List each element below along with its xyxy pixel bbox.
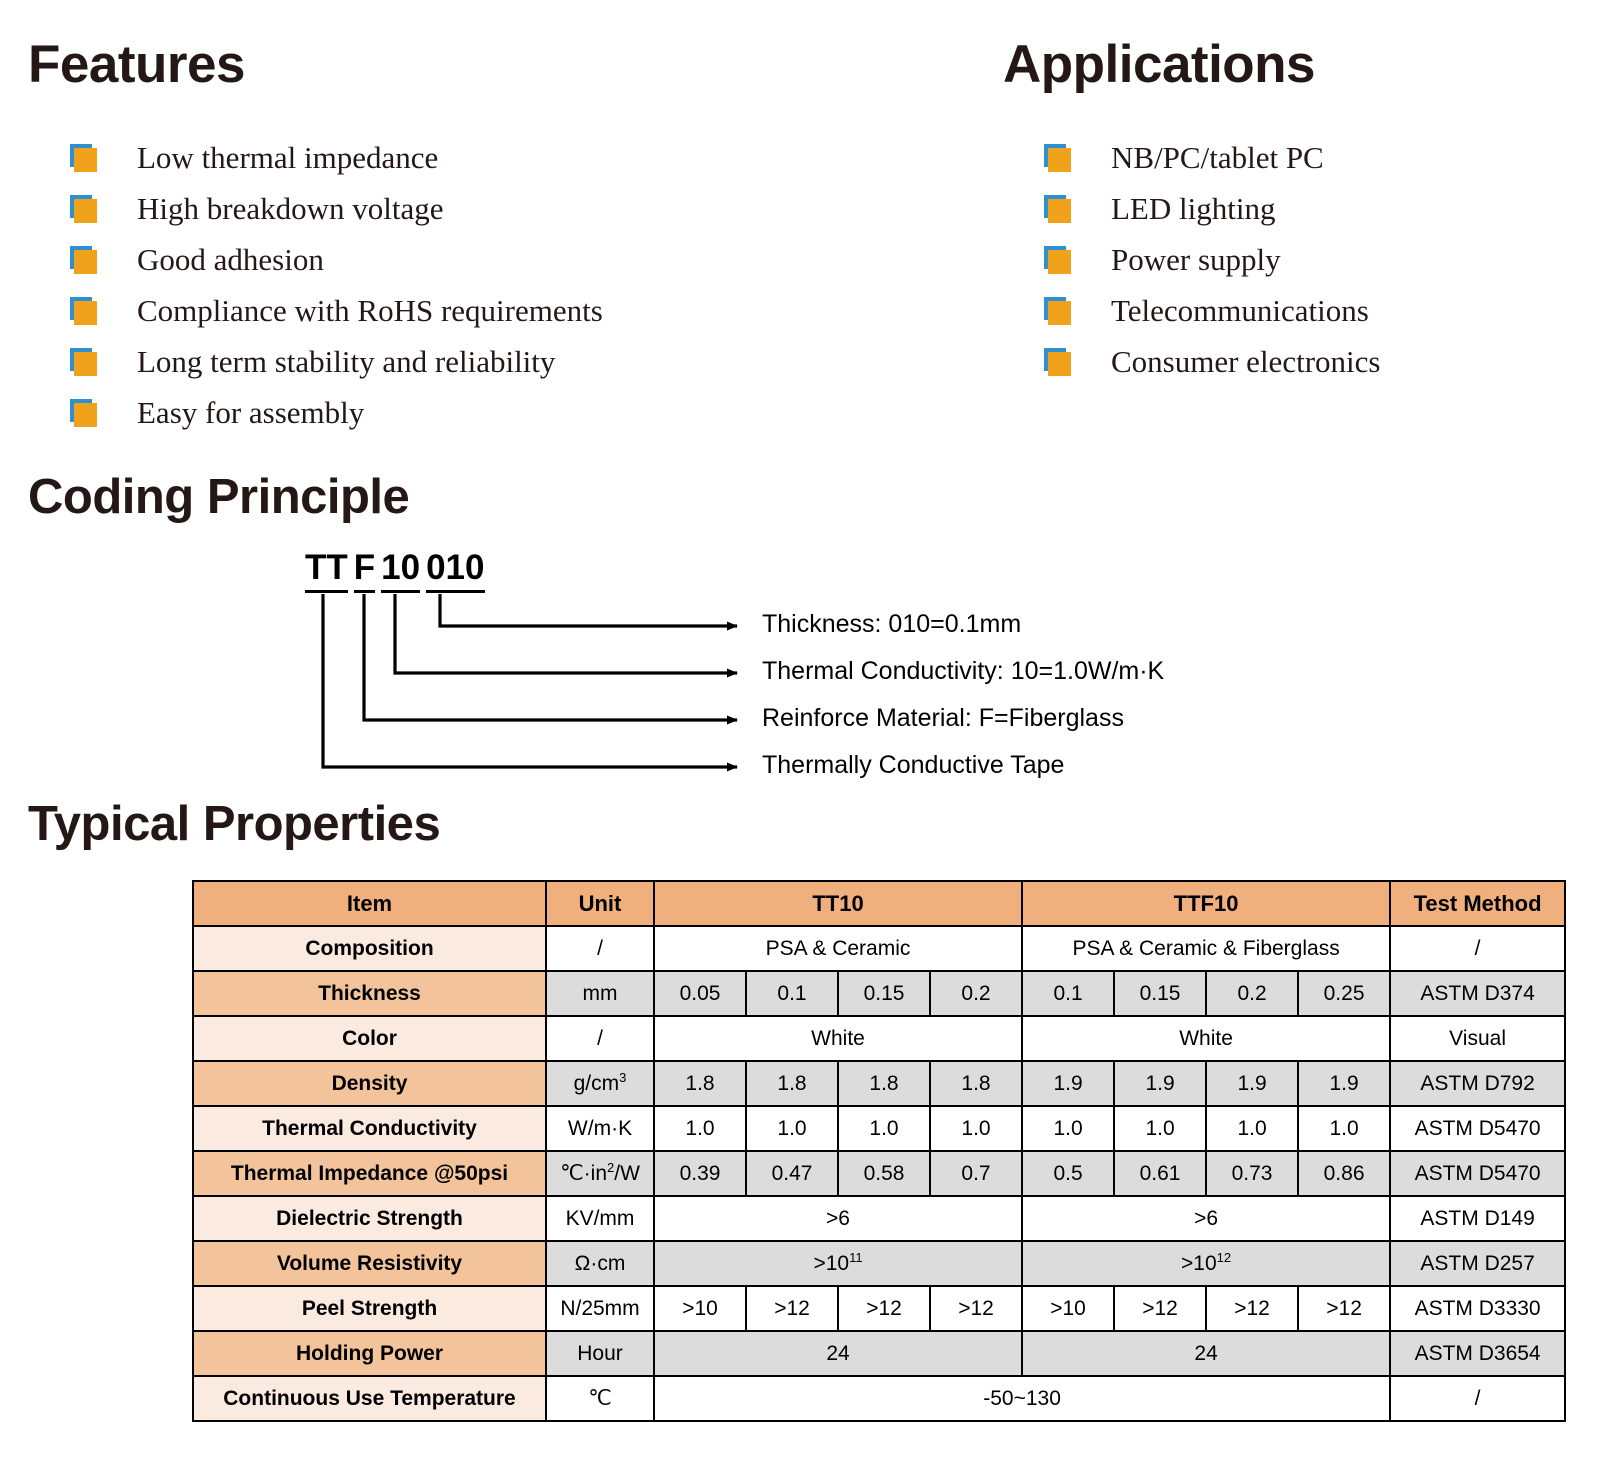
bullet-square-icon [70, 348, 97, 376]
applications-heading: Applications [1003, 38, 1315, 91]
row-label: Dielectric Strength [193, 1196, 546, 1241]
bullet-square-icon [1044, 144, 1071, 172]
bullet-square-icon [70, 195, 97, 223]
row-label: Composition [193, 926, 546, 971]
row-unit: KV/mm [546, 1196, 654, 1241]
row-value-tt10: 0.47 [746, 1151, 838, 1196]
row-unit: mm [546, 971, 654, 1016]
row-test-method: ASTM D5470 [1390, 1106, 1565, 1151]
row-value-ttf10: 0.86 [1298, 1151, 1390, 1196]
row-unit: N/25mm [546, 1286, 654, 1331]
row-test-method: ASTM D3330 [1390, 1286, 1565, 1331]
feature-item-label: Good adhesion [137, 242, 324, 278]
table-row: Composition/PSA & CeramicPSA & Ceramic &… [193, 926, 1565, 971]
table-row: Thermal Impedance @50psi℃·in2/W0.390.470… [193, 1151, 1565, 1196]
bullet-square-icon [1044, 246, 1071, 274]
row-test-method: ASTM D792 [1390, 1061, 1565, 1106]
application-item-label: Consumer electronics [1111, 344, 1380, 380]
datasheet-page: Features Low thermal impedanceHigh break… [0, 0, 1600, 1468]
row-test-method: ASTM D5470 [1390, 1151, 1565, 1196]
row-unit: W/m·K [546, 1106, 654, 1151]
row-value-ttf10: 1.9 [1022, 1061, 1114, 1106]
application-item: Power supply [1044, 234, 1380, 285]
row-value-tt10: PSA & Ceramic [654, 926, 1022, 971]
application-item: Consumer electronics [1044, 336, 1380, 387]
features-heading: Features [28, 38, 245, 91]
feature-item: Long term stability and reliability [70, 336, 603, 387]
table-row: Holding PowerHour2424ASTM D3654 [193, 1331, 1565, 1376]
row-value-ttf10: >1012 [1022, 1241, 1390, 1286]
feature-item-label: Easy for assembly [137, 395, 364, 431]
row-value-ttf10: 1.9 [1206, 1061, 1298, 1106]
row-label: Peel Strength [193, 1286, 546, 1331]
applications-list: NB/PC/tablet PCLED lightingPower supplyT… [1044, 132, 1380, 387]
row-test-method: ASTM D149 [1390, 1196, 1565, 1241]
feature-item: Easy for assembly [70, 387, 603, 438]
row-value-ttf10: 0.15 [1114, 971, 1206, 1016]
row-value-tt10: White [654, 1016, 1022, 1061]
row-value-tt10: 0.1 [746, 971, 838, 1016]
bullet-square-icon [70, 297, 97, 325]
row-value-ttf10: PSA & Ceramic & Fiberglass [1022, 926, 1390, 971]
code-label-thickness: Thickness: 010=0.1mm [762, 610, 1021, 639]
row-unit: Ω·cm [546, 1241, 654, 1286]
row-value-tt10: 0.2 [930, 971, 1022, 1016]
row-value-tt10: 0.05 [654, 971, 746, 1016]
row-label: Holding Power [193, 1331, 546, 1376]
row-value-tt10: >1011 [654, 1241, 1022, 1286]
code-label-thermal-conductivity: Thermal Conductivity: 10=1.0W/m·K [762, 657, 1164, 686]
row-unit: g/cm3 [546, 1061, 654, 1106]
table-row: Peel StrengthN/25mm>10>12>12>12>10>12>12… [193, 1286, 1565, 1331]
row-unit: Hour [546, 1331, 654, 1376]
row-value-tt10: >12 [930, 1286, 1022, 1331]
row-unit: / [546, 926, 654, 971]
row-value-ttf10: 1.0 [1206, 1106, 1298, 1151]
row-value-tt10: 0.7 [930, 1151, 1022, 1196]
feature-item: Low thermal impedance [70, 132, 603, 183]
typical-properties-table: Item Unit TT10 TTF10 Test Method Composi… [192, 880, 1566, 1422]
feature-item-label: Low thermal impedance [137, 140, 438, 176]
row-value-tt10: 0.58 [838, 1151, 930, 1196]
row-value-ttf10: 1.0 [1298, 1106, 1390, 1151]
table-row: Thicknessmm0.050.10.150.20.10.150.20.25A… [193, 971, 1565, 1016]
table-row: Thermal ConductivityW/m·K1.01.01.01.01.0… [193, 1106, 1565, 1151]
row-value-ttf10: >12 [1114, 1286, 1206, 1331]
row-value-ttf10: >6 [1022, 1196, 1390, 1241]
application-item-label: Power supply [1111, 242, 1281, 278]
feature-item-label: Long term stability and reliability [137, 344, 555, 380]
application-item: NB/PC/tablet PC [1044, 132, 1380, 183]
column-header-ttf10: TTF10 [1022, 881, 1390, 926]
row-value-tt10: 1.0 [838, 1106, 930, 1151]
row-test-method: ASTM D257 [1390, 1241, 1565, 1286]
code-label-reinforce-material: Reinforce Material: F=Fiberglass [762, 704, 1124, 733]
row-value-tt10: 1.8 [654, 1061, 746, 1106]
row-value-all: -50~130 [654, 1376, 1390, 1421]
row-value-ttf10: 1.9 [1114, 1061, 1206, 1106]
row-unit: ℃·in2/W [546, 1151, 654, 1196]
row-label: Thickness [193, 971, 546, 1016]
feature-item: Compliance with RoHS requirements [70, 285, 603, 336]
row-test-method: Visual [1390, 1016, 1565, 1061]
row-value-tt10: >6 [654, 1196, 1022, 1241]
column-header-item: Item [193, 881, 546, 926]
features-list: Low thermal impedanceHigh breakdown volt… [70, 132, 603, 438]
bullet-square-icon [1044, 348, 1071, 376]
row-value-ttf10: >12 [1206, 1286, 1298, 1331]
bullet-square-icon [1044, 195, 1071, 223]
row-value-tt10: 1.8 [930, 1061, 1022, 1106]
table-header-row: Item Unit TT10 TTF10 Test Method [193, 881, 1565, 926]
bullet-square-icon [70, 399, 97, 427]
typical-properties-heading: Typical Properties [28, 800, 440, 849]
table-body: Composition/PSA & CeramicPSA & Ceramic &… [193, 926, 1565, 1421]
row-value-tt10: >10 [654, 1286, 746, 1331]
row-value-tt10: >12 [746, 1286, 838, 1331]
application-item: Telecommunications [1044, 285, 1380, 336]
row-value-ttf10: 0.2 [1206, 971, 1298, 1016]
bullet-square-icon [70, 246, 97, 274]
row-value-tt10: 1.8 [746, 1061, 838, 1106]
row-value-ttf10: 1.0 [1114, 1106, 1206, 1151]
row-value-ttf10: White [1022, 1016, 1390, 1061]
row-label: Thermal Conductivity [193, 1106, 546, 1151]
row-value-ttf10: 0.73 [1206, 1151, 1298, 1196]
row-value-ttf10: 1.0 [1022, 1106, 1114, 1151]
bullet-square-icon [70, 144, 97, 172]
row-value-tt10: 0.39 [654, 1151, 746, 1196]
column-header-test-method: Test Method [1390, 881, 1565, 926]
table-row: Continuous Use Temperature℃-50~130/ [193, 1376, 1565, 1421]
row-label: Density [193, 1061, 546, 1106]
bullet-square-icon [1044, 297, 1071, 325]
row-value-ttf10: 0.61 [1114, 1151, 1206, 1196]
table-row: Dielectric StrengthKV/mm>6>6ASTM D149 [193, 1196, 1565, 1241]
column-header-unit: Unit [546, 881, 654, 926]
coding-principle-heading: Coding Principle [28, 473, 409, 522]
row-value-tt10: 0.15 [838, 971, 930, 1016]
row-value-ttf10: 1.9 [1298, 1061, 1390, 1106]
application-item-label: NB/PC/tablet PC [1111, 140, 1324, 176]
row-value-ttf10: >12 [1298, 1286, 1390, 1331]
row-value-tt10: 24 [654, 1331, 1022, 1376]
feature-item: Good adhesion [70, 234, 603, 285]
row-test-method: / [1390, 926, 1565, 971]
row-value-tt10: >12 [838, 1286, 930, 1331]
row-label: Volume Resistivity [193, 1241, 546, 1286]
row-test-method: ASTM D374 [1390, 971, 1565, 1016]
row-value-tt10: 1.0 [746, 1106, 838, 1151]
row-value-ttf10: >10 [1022, 1286, 1114, 1331]
row-value-tt10: 1.0 [930, 1106, 1022, 1151]
row-label: Thermal Impedance @50psi [193, 1151, 546, 1196]
feature-item-label: High breakdown voltage [137, 191, 443, 227]
table-row: Volume ResistivityΩ·cm>1011>1012ASTM D25… [193, 1241, 1565, 1286]
row-test-method: / [1390, 1376, 1565, 1421]
row-unit: ℃ [546, 1376, 654, 1421]
row-value-tt10: 1.0 [654, 1106, 746, 1151]
row-unit: / [546, 1016, 654, 1061]
row-value-ttf10: 24 [1022, 1331, 1390, 1376]
coding-principle-diagram: TTF10010 Thickness: 010=0.1mm Thermal Co… [290, 548, 1490, 793]
application-item-label: LED lighting [1111, 191, 1275, 227]
row-test-method: ASTM D3654 [1390, 1331, 1565, 1376]
feature-item: High breakdown voltage [70, 183, 603, 234]
row-label: Color [193, 1016, 546, 1061]
application-item-label: Telecommunications [1111, 293, 1369, 329]
row-value-ttf10: 0.1 [1022, 971, 1114, 1016]
row-value-ttf10: 0.25 [1298, 971, 1390, 1016]
row-value-ttf10: 0.5 [1022, 1151, 1114, 1196]
table-row: Densityg/cm31.81.81.81.81.91.91.91.9ASTM… [193, 1061, 1565, 1106]
code-label-thermally-conductive-tape: Thermally Conductive Tape [762, 751, 1064, 780]
feature-item-label: Compliance with RoHS requirements [137, 293, 603, 329]
row-label: Continuous Use Temperature [193, 1376, 546, 1421]
application-item: LED lighting [1044, 183, 1380, 234]
column-header-tt10: TT10 [654, 881, 1022, 926]
table-row: Color/WhiteWhiteVisual [193, 1016, 1565, 1061]
row-value-tt10: 1.8 [838, 1061, 930, 1106]
